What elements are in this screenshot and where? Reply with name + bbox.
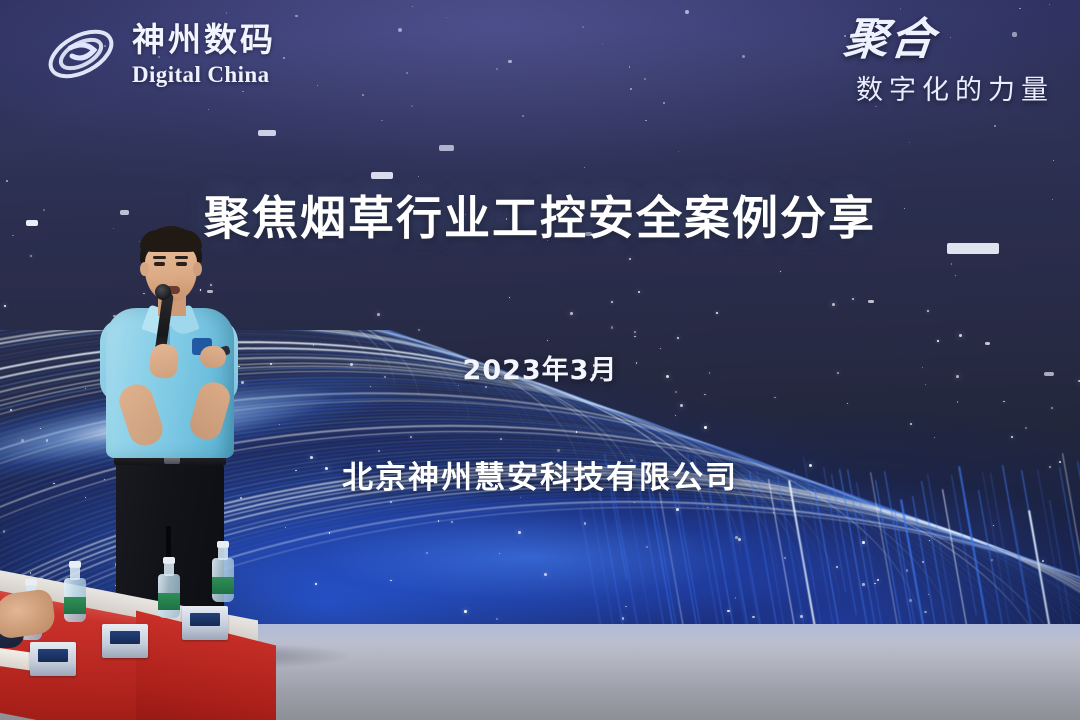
microphone-head	[155, 284, 171, 300]
speaker-hair-fringe	[140, 230, 202, 252]
speaker-eye-right	[176, 262, 187, 266]
speaker-hand-left	[148, 343, 179, 380]
speaker-hand-right	[200, 346, 226, 368]
brand-logo: 神州数码 Digital China	[44, 22, 276, 86]
brand-name-cn: 神州数码	[132, 23, 276, 56]
digital-china-swirl-icon	[44, 22, 118, 86]
bottle-neck	[218, 547, 228, 560]
water-bottle	[158, 574, 180, 618]
bottle-neck	[164, 563, 174, 576]
bottle-body	[158, 574, 180, 618]
speaker-ear-right	[193, 262, 202, 276]
brand-name-en: Digital China	[132, 63, 276, 86]
bottle-body	[212, 558, 234, 602]
bottle-label	[212, 577, 234, 594]
speaker-eyebrow-right	[175, 256, 188, 259]
judges-table	[0, 560, 286, 720]
bottle-label	[158, 593, 180, 610]
slogan-subtitle: 数字化的力量	[844, 68, 1054, 107]
water-bottle	[64, 578, 86, 622]
speaker-ear-left	[140, 262, 149, 276]
bottle-label	[64, 597, 86, 614]
speaker-eyebrow-left	[153, 256, 166, 259]
name-card	[182, 606, 228, 640]
slogan-calligraphy: 聚合	[842, 18, 939, 62]
name-card	[102, 624, 148, 658]
event-slogan: 聚合 数字化的力量	[844, 18, 1054, 107]
conference-stage-photo: 神州数码 Digital China 聚合 数字化的力量 聚焦烟草行业工控安全案…	[0, 0, 1080, 720]
speaker-eye-left	[154, 262, 165, 266]
bottle-body	[64, 578, 86, 622]
name-card	[30, 642, 76, 676]
water-bottle	[212, 558, 234, 602]
bottle-neck	[70, 567, 80, 580]
